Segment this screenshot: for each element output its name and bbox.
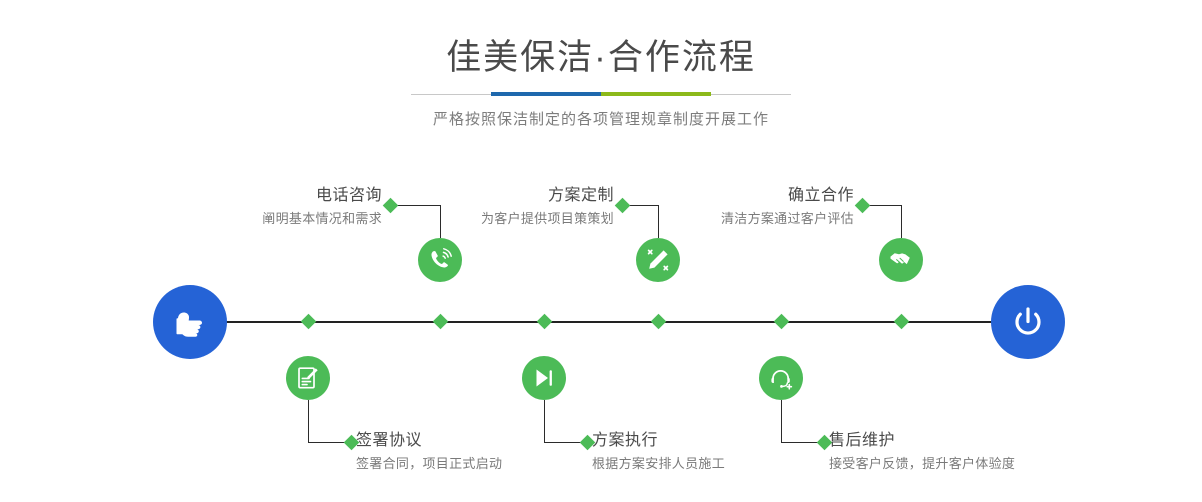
- phone-call-icon: [427, 247, 453, 273]
- document-pen-icon: [295, 365, 321, 391]
- label-plan-execution: 方案执行 根据方案安排人员施工: [592, 430, 725, 474]
- label-title: 确立合作: [721, 185, 854, 207]
- marker-phone-consultation-label: [383, 198, 399, 214]
- label-plan-customization: 方案定制 为客户提供项目策策划: [481, 185, 614, 229]
- marker-establish-cooperation-label: [855, 198, 871, 214]
- label-title: 售后维护: [829, 430, 1015, 452]
- label-desc: 签署合同，项目正式启动: [356, 452, 502, 474]
- label-title: 方案定制: [481, 185, 614, 207]
- power-icon: [1008, 302, 1048, 342]
- marker-after-sales-service-axis: [774, 314, 790, 330]
- marker-establish-cooperation-axis: [894, 314, 910, 330]
- label-establish-cooperation: 确立合作 清洁方案通过客户评估: [721, 185, 854, 229]
- label-desc: 阐明基本情况和需求: [262, 207, 382, 229]
- connector-establish-cooperation-vertical: [901, 205, 902, 238]
- label-phone-consultation: 电话咨询 阐明基本情况和需求: [262, 185, 382, 229]
- label-sign-agreement: 签署协议 签署合同，项目正式启动: [356, 430, 502, 474]
- label-desc: 接受客户反馈，提升客户体验度: [829, 452, 1015, 474]
- pencil-ruler-icon: [645, 247, 671, 273]
- marker-plan-customization-axis: [651, 314, 667, 330]
- label-title: 电话咨询: [262, 185, 382, 207]
- timeline-axis: [160, 321, 1042, 323]
- connector-plan-customization-vertical: [658, 205, 659, 238]
- step-node-after-sales-service[interactable]: [759, 356, 803, 400]
- marker-sign-agreement-axis: [301, 314, 317, 330]
- step-node-plan-execution[interactable]: [522, 356, 566, 400]
- label-title: 方案执行: [592, 430, 725, 452]
- headset-plus-icon: [768, 365, 794, 391]
- label-title: 签署协议: [356, 430, 502, 452]
- step-node-plan-customization[interactable]: [636, 238, 680, 282]
- timeline-start-node[interactable]: [153, 285, 227, 359]
- thumbs-up-icon: [170, 302, 210, 342]
- connector-plan-execution-vertical: [544, 400, 545, 442]
- label-desc: 清洁方案通过客户评估: [721, 207, 854, 229]
- step-node-phone-consultation[interactable]: [418, 238, 462, 282]
- connector-sign-agreement-vertical: [308, 400, 309, 442]
- timeline-end-node[interactable]: [991, 285, 1065, 359]
- marker-phone-consultation-axis: [433, 314, 449, 330]
- connector-after-sales-service-vertical: [781, 400, 782, 442]
- handshake-icon: [888, 247, 914, 273]
- step-node-establish-cooperation[interactable]: [879, 238, 923, 282]
- play-execute-icon: [531, 365, 557, 391]
- marker-plan-execution-axis: [537, 314, 553, 330]
- label-after-sales-service: 售后维护 接受客户反馈，提升客户体验度: [829, 430, 1015, 474]
- connector-phone-consultation-vertical: [440, 205, 441, 238]
- label-desc: 根据方案安排人员施工: [592, 452, 725, 474]
- process-timeline: 电话咨询 阐明基本情况和需求 签署协议 签署合同，项目正式启动: [0, 0, 1202, 502]
- label-desc: 为客户提供项目策策划: [481, 207, 614, 229]
- marker-plan-customization-label: [615, 198, 631, 214]
- step-node-sign-agreement[interactable]: [286, 356, 330, 400]
